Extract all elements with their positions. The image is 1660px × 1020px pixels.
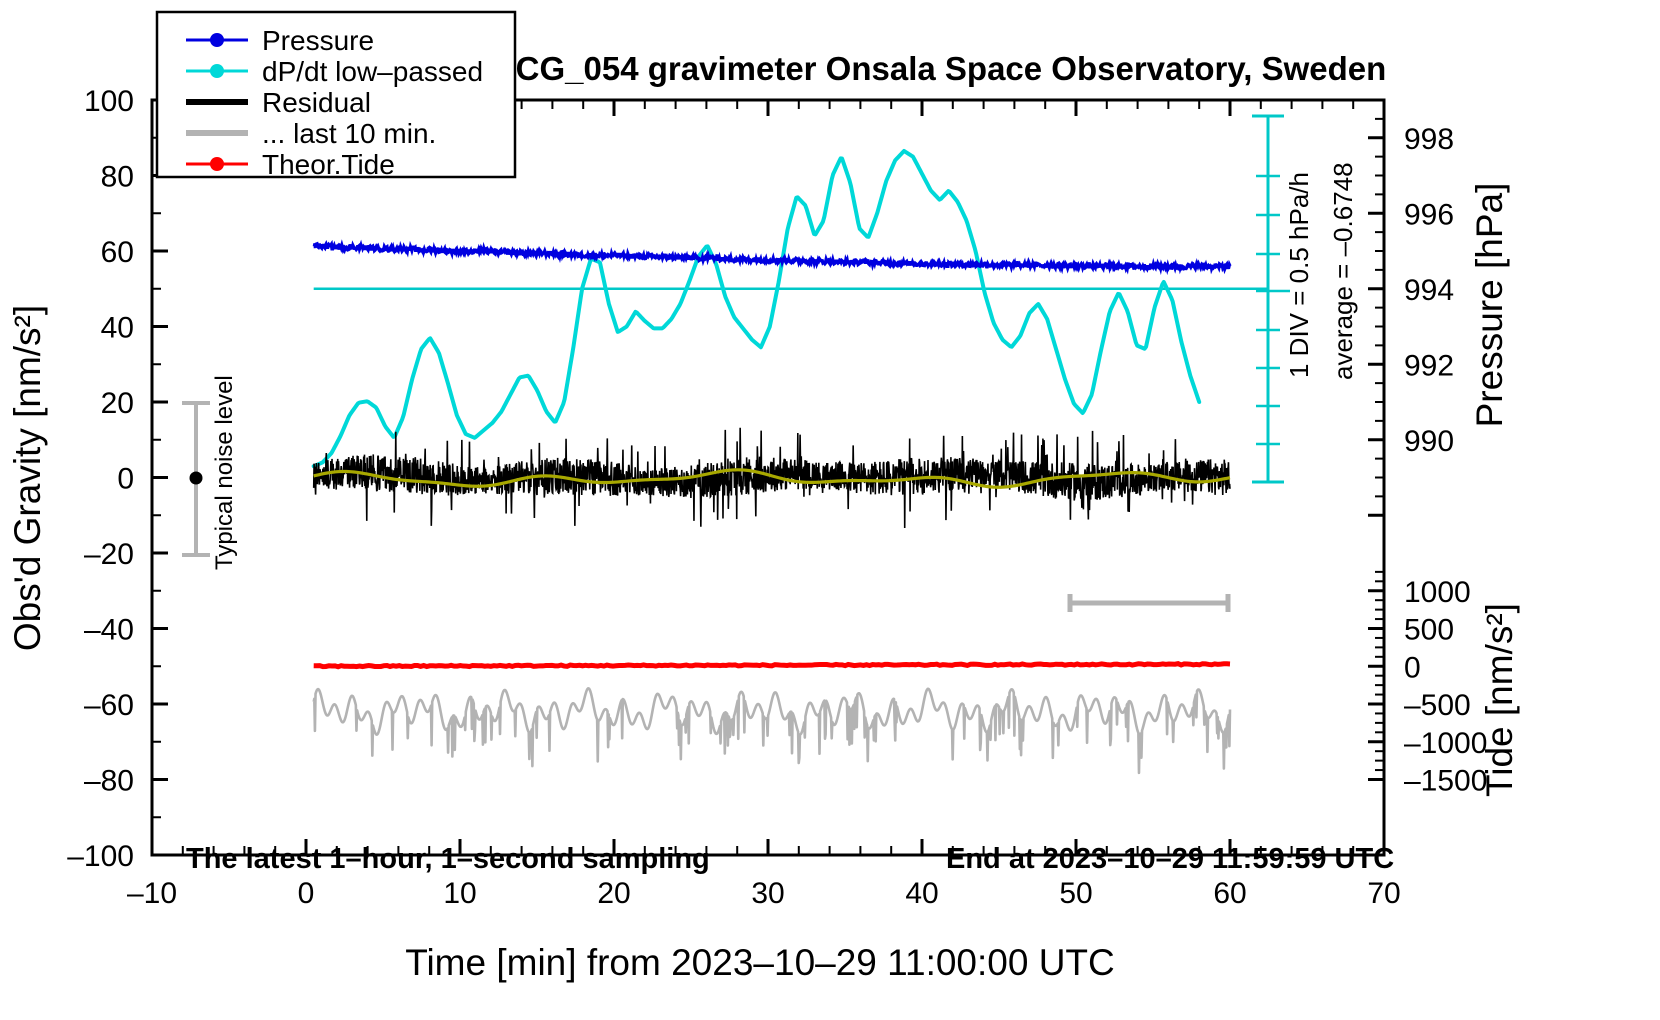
pressure-tick-label: 998 (1404, 123, 1454, 156)
series-theor-tide (314, 664, 1230, 667)
dpdt-average-label: average = –0.6748 (1328, 162, 1358, 380)
x-tick-label: 60 (1213, 877, 1246, 910)
legend-label: Pressure (262, 25, 374, 56)
pressure-axis-title: Pressure [hPa] (1469, 183, 1510, 428)
y-tick-label: 0 (117, 463, 134, 496)
y-tick-label: 80 (101, 161, 134, 194)
tide-tick-label: 0 (1404, 651, 1421, 684)
x-tick-label: –10 (127, 877, 177, 910)
footer-left: The latest 1–hour, 1–second sampling (186, 843, 710, 875)
tide-tick-label: 1000 (1404, 576, 1471, 609)
x-tick-label: 50 (1059, 877, 1092, 910)
legend[interactable]: PressuredP/dt low–passedResidual... last… (157, 12, 515, 180)
pressure-tick-label: 996 (1404, 198, 1454, 231)
legend-swatch-marker (210, 64, 224, 78)
tide-tick-label: –1000 (1404, 727, 1487, 760)
y-tick-label: –60 (84, 689, 134, 722)
pressure-tick-label: 994 (1404, 274, 1454, 307)
legend-label: Residual (262, 87, 371, 118)
tide-axis-title: Tide [nm/s²] (1479, 603, 1520, 797)
page-title: SCG_054 gravimeter Onsala Space Observat… (494, 50, 1387, 87)
x-tick-label: 20 (597, 877, 630, 910)
pressure-tick-label: 990 (1404, 425, 1454, 458)
pressure-tick-label: 992 (1404, 349, 1454, 382)
x-axis-title: Time [min] from 2023–10–29 11:00:00 UTC (405, 942, 1115, 983)
chart-root: –10010203040506070 –100–80–60–40–2002040… (0, 0, 1660, 1020)
footer-right: End at 2023–10–29 11:59:59 UTC (946, 843, 1394, 875)
x-tick-label: 40 (905, 877, 938, 910)
tide-tick-label: –500 (1404, 689, 1471, 722)
y-tick-label: 100 (84, 85, 134, 118)
x-tick-label: 30 (751, 877, 784, 910)
typical-noise-label: Typical noise level (211, 375, 238, 570)
y-tick-label: 40 (101, 312, 134, 345)
dpdt-scale-label: 1 DIV = 0.5 hPa/h (1284, 172, 1314, 378)
legend-swatch-marker (210, 33, 224, 47)
y-tick-label: 20 (101, 387, 134, 420)
x-tick-label: 70 (1367, 877, 1400, 910)
y-tick-label: –80 (84, 765, 134, 798)
tide-tick-label: 500 (1404, 614, 1454, 647)
legend-label: Theor.Tide (262, 149, 395, 180)
y-tick-label: –20 (84, 538, 134, 571)
y-tick-label: –40 (84, 614, 134, 647)
y-tick-label: –100 (67, 840, 134, 873)
x-tick-label: 10 (443, 877, 476, 910)
y-tick-label: 60 (101, 236, 134, 269)
legend-swatch-marker (210, 157, 224, 171)
gravimeter-plot: –10010203040506070 –100–80–60–40–2002040… (0, 0, 1660, 1020)
legend-label: dP/dt low–passed (262, 56, 483, 87)
x-tick-label: 0 (298, 877, 315, 910)
y-axis-title: Obs'd Gravity [nm/s²] (7, 305, 48, 651)
tide-tick-label: –1500 (1404, 765, 1487, 798)
legend-label: ... last 10 min. (262, 118, 436, 149)
